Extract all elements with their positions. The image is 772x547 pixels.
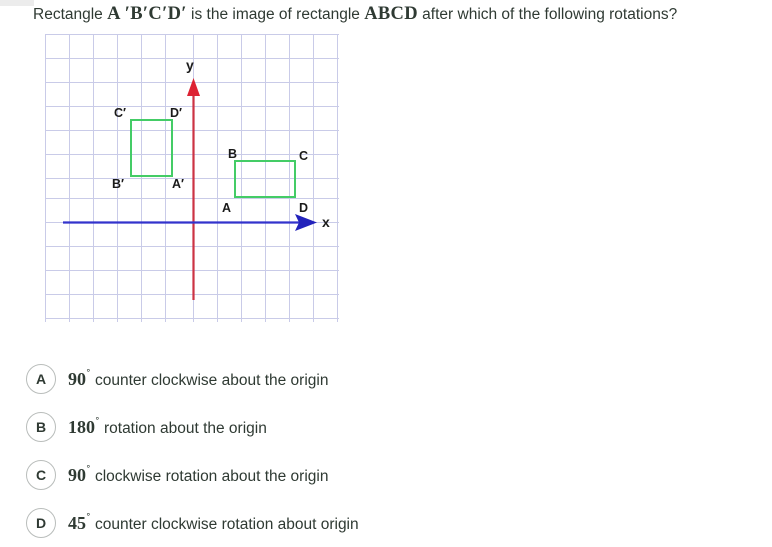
question-prompt: Rectangle A ′B′C′D′ is the image of rect… bbox=[33, 3, 753, 26]
option-label-a: 90˚ counter clockwise about the origin bbox=[68, 368, 328, 390]
y-axis-label: y bbox=[186, 57, 194, 73]
coordinate-plane-figure: y x C′ D′ B′ A′ B C A D bbox=[45, 34, 339, 322]
answer-options-list: A 90˚ counter clockwise about the origin… bbox=[26, 355, 726, 547]
vertex-label-d: D bbox=[299, 201, 308, 215]
option-a-number: 90 bbox=[68, 369, 86, 389]
vertex-label-a: A bbox=[222, 201, 231, 215]
vertex-label-c: C bbox=[299, 149, 308, 163]
question-preimage-label: ABCD bbox=[364, 4, 418, 24]
question-image-label: A ′B′C′D′ bbox=[107, 4, 187, 24]
vertex-label-c-prime: C′ bbox=[114, 106, 126, 120]
option-bubble-c[interactable]: C bbox=[26, 460, 56, 490]
option-label-d: 45˚ counter clockwise rotation about ori… bbox=[68, 512, 359, 534]
option-c-number: 90 bbox=[68, 465, 86, 485]
option-row-a[interactable]: A 90˚ counter clockwise about the origin bbox=[26, 355, 726, 403]
vertex-label-b: B bbox=[228, 147, 237, 161]
option-a-text: counter clockwise about the origin bbox=[91, 372, 329, 389]
option-bubble-a[interactable]: A bbox=[26, 364, 56, 394]
option-label-c: 90˚ clockwise rotation about the origin bbox=[68, 464, 328, 486]
option-b-number: 180 bbox=[68, 417, 95, 437]
vertex-label-b-prime: B′ bbox=[112, 177, 124, 191]
rectangle-a-b-c-d-prime bbox=[130, 119, 173, 177]
question-suffix: after which of the following rotations? bbox=[418, 6, 677, 23]
vertex-label-a-prime: A′ bbox=[172, 177, 184, 191]
vertex-label-d-prime: D′ bbox=[170, 106, 182, 120]
rectangle-abcd bbox=[234, 160, 296, 198]
option-row-d[interactable]: D 45˚ counter clockwise rotation about o… bbox=[26, 499, 726, 547]
option-d-text: counter clockwise rotation about origin bbox=[91, 516, 359, 533]
option-bubble-b[interactable]: B bbox=[26, 412, 56, 442]
option-row-b[interactable]: B 180˚ rotation about the origin bbox=[26, 403, 726, 451]
question-prefix: Rectangle bbox=[33, 6, 107, 23]
option-row-c[interactable]: C 90˚ clockwise rotation about the origi… bbox=[26, 451, 726, 499]
option-bubble-d[interactable]: D bbox=[26, 508, 56, 538]
top-left-strip bbox=[0, 0, 34, 6]
question-middle: is the image of rectangle bbox=[187, 6, 365, 23]
option-label-b: 180˚ rotation about the origin bbox=[68, 416, 267, 438]
option-b-text: rotation about the origin bbox=[100, 420, 267, 437]
option-d-number: 45 bbox=[68, 513, 86, 533]
x-axis-label: x bbox=[322, 214, 330, 230]
option-c-text: clockwise rotation about the origin bbox=[91, 468, 329, 485]
